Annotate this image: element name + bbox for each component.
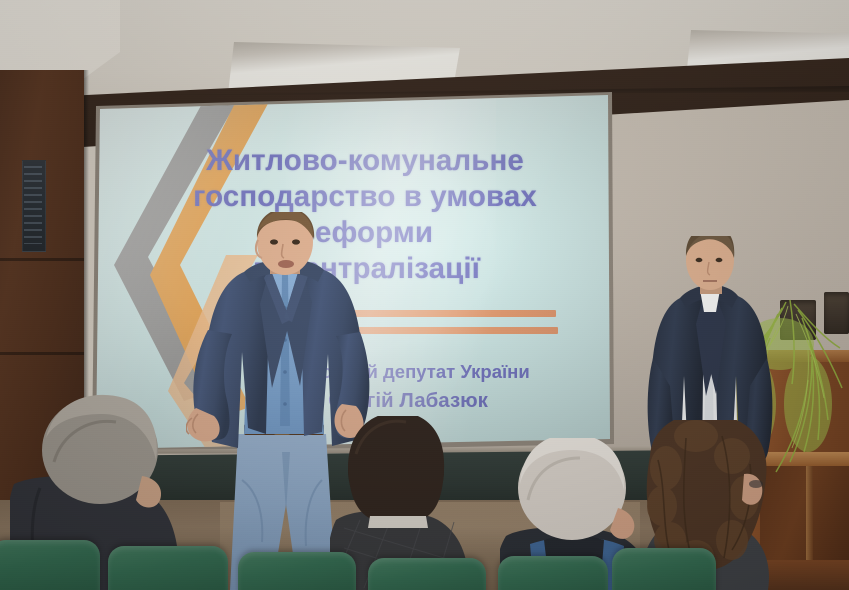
auditorium-seat <box>368 558 486 590</box>
wall-notice-text-lines <box>24 166 42 244</box>
auditorium-seat <box>108 546 228 590</box>
auditorium-seat <box>238 552 356 590</box>
panel-seam <box>0 352 84 355</box>
auditorium-seat <box>498 556 608 590</box>
presentation-photo-scene: Житлово-комунальне господарство в умовах… <box>0 0 849 590</box>
auditorium-seat <box>0 540 100 590</box>
panel-seam <box>0 258 84 261</box>
auditorium-seat <box>612 548 716 590</box>
